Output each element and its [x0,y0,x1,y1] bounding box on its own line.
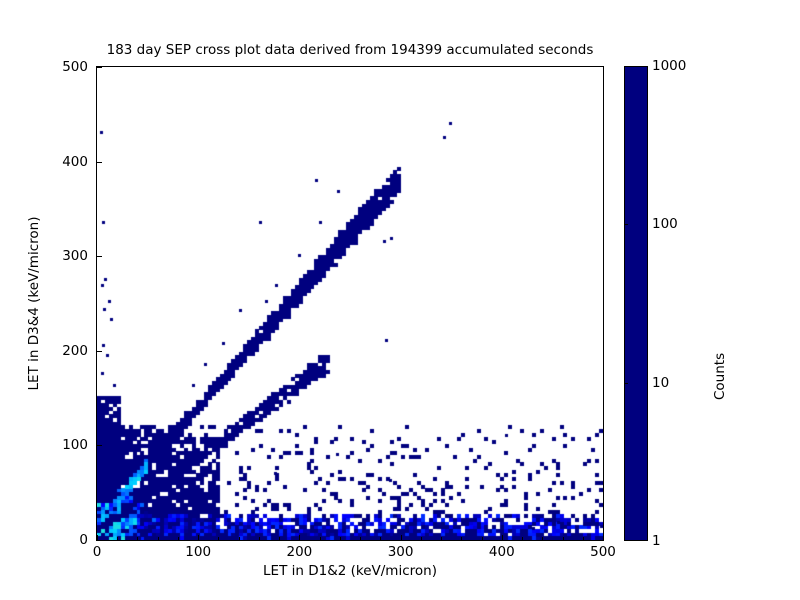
x-tick-minor-320 [421,537,422,540]
x-tick-minor-280 [380,537,381,540]
x-tick-minor-380 [482,537,483,540]
x-tick-minor-440 [542,537,543,540]
x-ticklabel-200: 200 [287,544,313,560]
x-ticklabel-400: 400 [489,544,515,560]
x-tick-minor-480 [583,537,584,540]
colorbar-ticklabel-100: 100 [652,216,678,232]
colorbar-ticklabel-10: 10 [652,375,669,391]
x-tick-minor-60 [158,537,159,540]
x-tick-minor-340 [441,537,442,540]
y-tick-0 [97,540,102,541]
y-tick-200 [97,351,102,352]
plot-area[interactable] [96,66,604,541]
x-tick-minor-420 [522,537,523,540]
colorbar-title: Counts [712,140,728,400]
x-tick-minor-20 [117,537,118,540]
colorbar-tick-10 [624,383,628,384]
x-ticklabel-100: 100 [185,544,211,560]
scatter-heatmap-canvas [97,67,603,540]
x-tick-minor-180 [279,537,280,540]
x-tick-400 [502,535,503,540]
x-tick-500 [603,535,604,540]
x-tick-minor-80 [178,537,179,540]
x-tick-100 [198,535,199,540]
x-tick-minor-140 [239,537,240,540]
y-axis-label: LET in D3&4 (keV/micron) [26,66,42,541]
x-tick-minor-40 [137,537,138,540]
figure-canvas: 183 day SEP cross plot data derived from… [0,0,800,600]
x-ticklabel-500: 500 [590,544,616,560]
colorbar-gradient [625,67,647,540]
y-tick-300 [97,256,102,257]
x-tick-minor-360 [461,537,462,540]
y-tick-100 [97,445,102,446]
x-tick-minor-220 [320,537,321,540]
colorbar-ticklabel-1000: 1000 [652,58,686,74]
y-tick-500 [97,67,102,68]
x-axis-label: LET in D1&2 (keV/micron) [96,563,604,579]
x-tick-200 [299,535,300,540]
x-tick-minor-240 [340,537,341,540]
x-ticklabel-300: 300 [388,544,414,560]
x-tick-minor-460 [563,537,564,540]
y-tick-400 [97,162,102,163]
x-ticklabel-0: 0 [93,544,102,560]
colorbar-tick-100 [624,224,628,225]
colorbar-ticklabel-1: 1 [652,533,661,549]
colorbar[interactable] [624,66,648,541]
x-tick-minor-120 [218,537,219,540]
x-tick-minor-160 [259,537,260,540]
x-tick-300 [401,535,402,540]
plot-title-line-1: 183 day SEP cross plot data derived from… [0,42,700,59]
x-tick-minor-260 [360,537,361,540]
